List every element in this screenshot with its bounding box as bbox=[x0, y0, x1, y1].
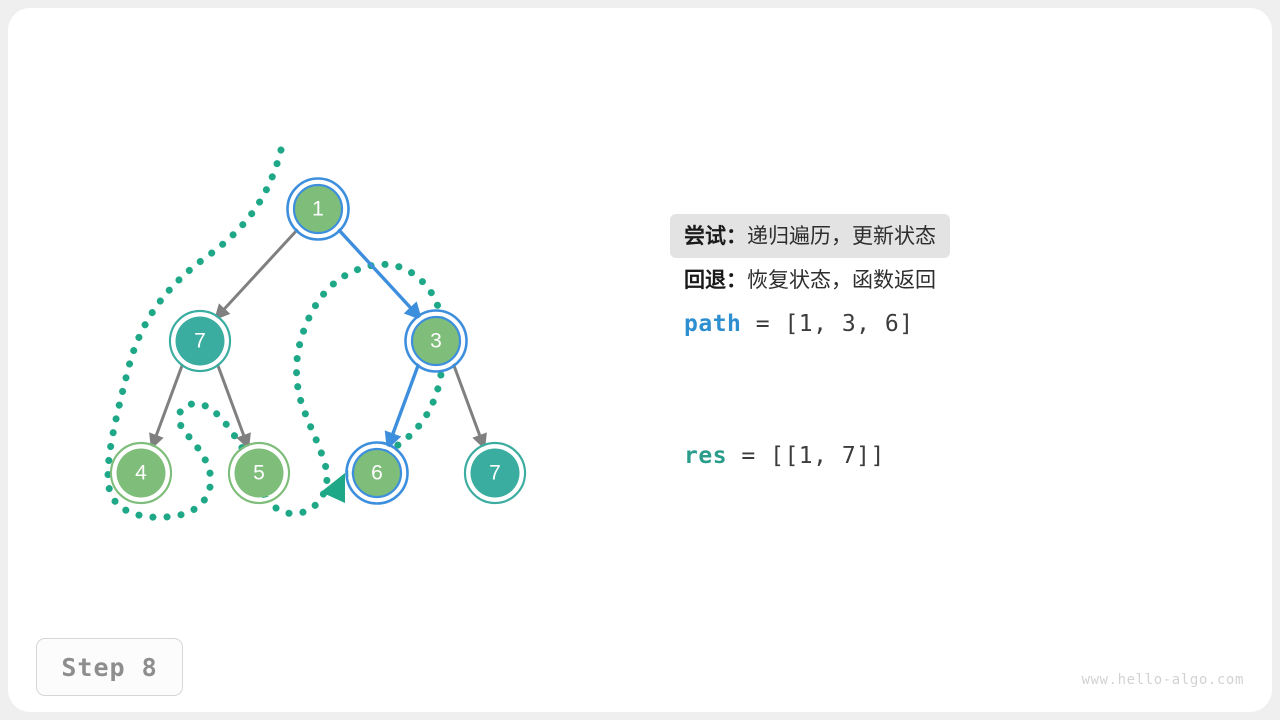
state-info-panel: 尝试：递归遍历，更新状态 回退：恢复状态，函数返回 path = [1, 3, … bbox=[684, 214, 1104, 478]
tree-node-3-label: 3 bbox=[430, 330, 442, 353]
path-equals: = bbox=[741, 311, 784, 337]
res-value: [[1, 7]] bbox=[770, 443, 885, 469]
edge-1-3 bbox=[338, 229, 420, 318]
edge-3-6 bbox=[388, 363, 419, 447]
backtrack-text: 恢复状态，函数返回 bbox=[747, 268, 936, 292]
tree-node-5-label: 5 bbox=[253, 462, 265, 485]
res-line-inner: res = [[1, 7]] bbox=[670, 434, 899, 478]
tree-node-1[interactable]: 1 bbox=[288, 179, 349, 240]
tree-node-7-left[interactable]: 7 bbox=[170, 311, 230, 371]
watermark: www.hello-algo.com bbox=[1081, 672, 1244, 688]
tree-node-3[interactable]: 3 bbox=[406, 311, 467, 372]
edge-7l-4 bbox=[152, 363, 183, 447]
path-variable: path bbox=[684, 311, 741, 337]
step-badge: Step 8 bbox=[36, 638, 183, 696]
tree-node-1-label: 1 bbox=[312, 198, 324, 221]
tree-node-7-right-label: 7 bbox=[489, 462, 501, 485]
path-value: [1, 3, 6] bbox=[784, 311, 913, 337]
try-label: 尝试： bbox=[684, 224, 747, 248]
backtrack-line: 回退：恢复状态，函数返回 bbox=[684, 258, 1104, 302]
try-line: 尝试：递归遍历，更新状态 bbox=[684, 214, 1104, 258]
backtrack-line-inner: 回退：恢复状态，函数返回 bbox=[670, 258, 950, 302]
try-line-highlight: 尝试：递归遍历，更新状态 bbox=[670, 214, 950, 258]
res-variable: res bbox=[684, 443, 727, 469]
res-equals: = bbox=[727, 443, 770, 469]
tree-node-6[interactable]: 6 bbox=[347, 443, 408, 504]
tree-node-7-left-label: 7 bbox=[194, 330, 206, 353]
tree-node-4-label: 4 bbox=[135, 462, 147, 485]
path-line-inner: path = [1, 3, 6] bbox=[670, 302, 928, 346]
tree-node-6-label: 6 bbox=[371, 462, 383, 485]
tree-node-7-right[interactable]: 7 bbox=[465, 443, 525, 503]
info-spacer-2 bbox=[684, 390, 1104, 434]
edge-1-7l bbox=[216, 229, 298, 318]
try-text: 递归遍历，更新状态 bbox=[747, 224, 936, 248]
step-badge-label: Step 8 bbox=[61, 653, 157, 682]
tree-nodes: 1 7 3 4 bbox=[111, 179, 525, 504]
backtrack-label: 回退： bbox=[684, 268, 747, 292]
watermark-text: www.hello-algo.com bbox=[1081, 672, 1244, 688]
tree-node-5[interactable]: 5 bbox=[229, 443, 289, 503]
path-line: path = [1, 3, 6] bbox=[684, 302, 1104, 346]
info-spacer-1 bbox=[684, 346, 1104, 390]
res-line: res = [[1, 7]] bbox=[684, 434, 1104, 478]
tree-node-4[interactable]: 4 bbox=[111, 443, 171, 503]
edge-3-7r bbox=[453, 363, 484, 447]
screenshot-root: 1 7 3 4 bbox=[0, 0, 1280, 720]
